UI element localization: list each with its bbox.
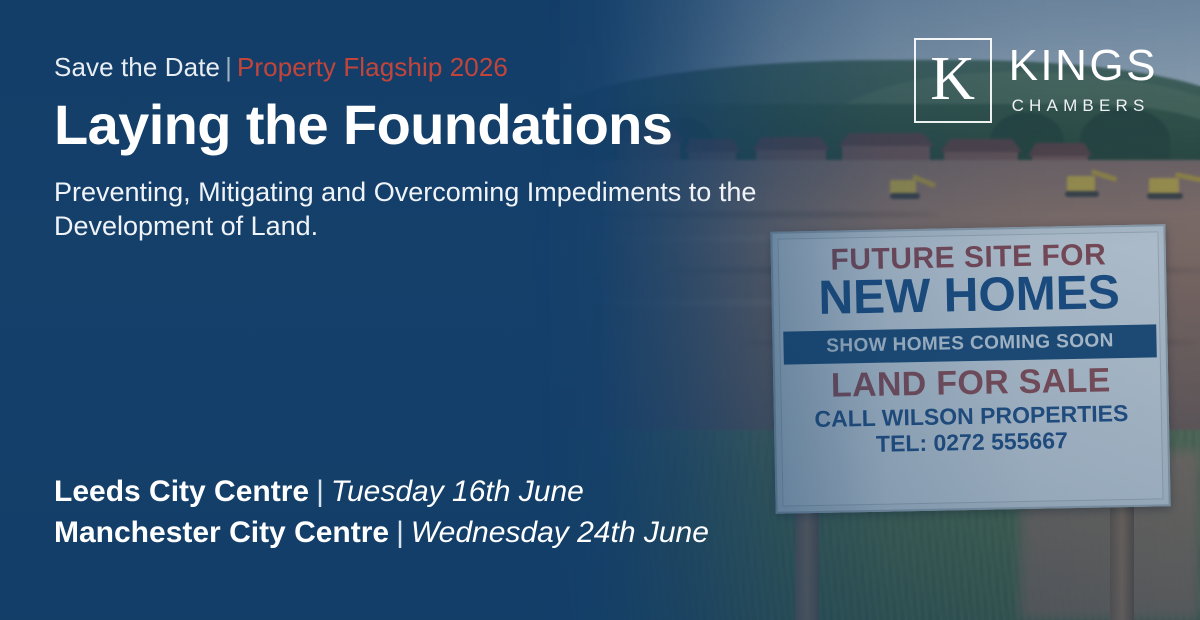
- eyebrow-line: Save the Date|Property Flagship 2026: [54, 52, 508, 83]
- logo-k-monogram-icon: K: [914, 38, 992, 123]
- logo-wordmark: KINGS CHAMBERS: [1009, 38, 1158, 114]
- page-subtitle: Preventing, Mitigating and Overcoming Im…: [54, 175, 794, 243]
- venue-separator: |: [309, 475, 331, 508]
- venue-location: Manchester City Centre: [54, 516, 389, 549]
- venue-list: Leeds City Centre|Tuesday 16th June Manc…: [54, 472, 709, 553]
- logo-chambers-text: CHAMBERS: [1009, 97, 1158, 114]
- venue-date: Wednesday 24th June: [411, 516, 709, 549]
- venue-row: Leeds City Centre|Tuesday 16th June: [54, 472, 709, 513]
- eyebrow-series-name: Property Flagship 2026: [237, 52, 508, 82]
- venue-row: Manchester City Centre|Wednesday 24th Ju…: [54, 513, 709, 554]
- logo-kings-text: KINGS: [1009, 44, 1158, 88]
- venue-location: Leeds City Centre: [54, 475, 309, 508]
- event-banner: FUTURE SITE FOR NEW HOMES SHOW HOMES COM…: [0, 0, 1200, 620]
- page-title: Laying the Foundations: [54, 96, 672, 155]
- venue-separator: |: [389, 516, 411, 549]
- eyebrow-save-the-date: Save the Date: [54, 52, 220, 82]
- logo-letter: K: [930, 48, 975, 110]
- eyebrow-separator: |: [220, 52, 237, 82]
- kings-chambers-logo: K KINGS CHAMBERS: [914, 38, 1158, 123]
- venue-date: Tuesday 16th June: [331, 475, 584, 508]
- banner-content: Save the Date|Property Flagship 2026 Lay…: [0, 0, 1200, 620]
